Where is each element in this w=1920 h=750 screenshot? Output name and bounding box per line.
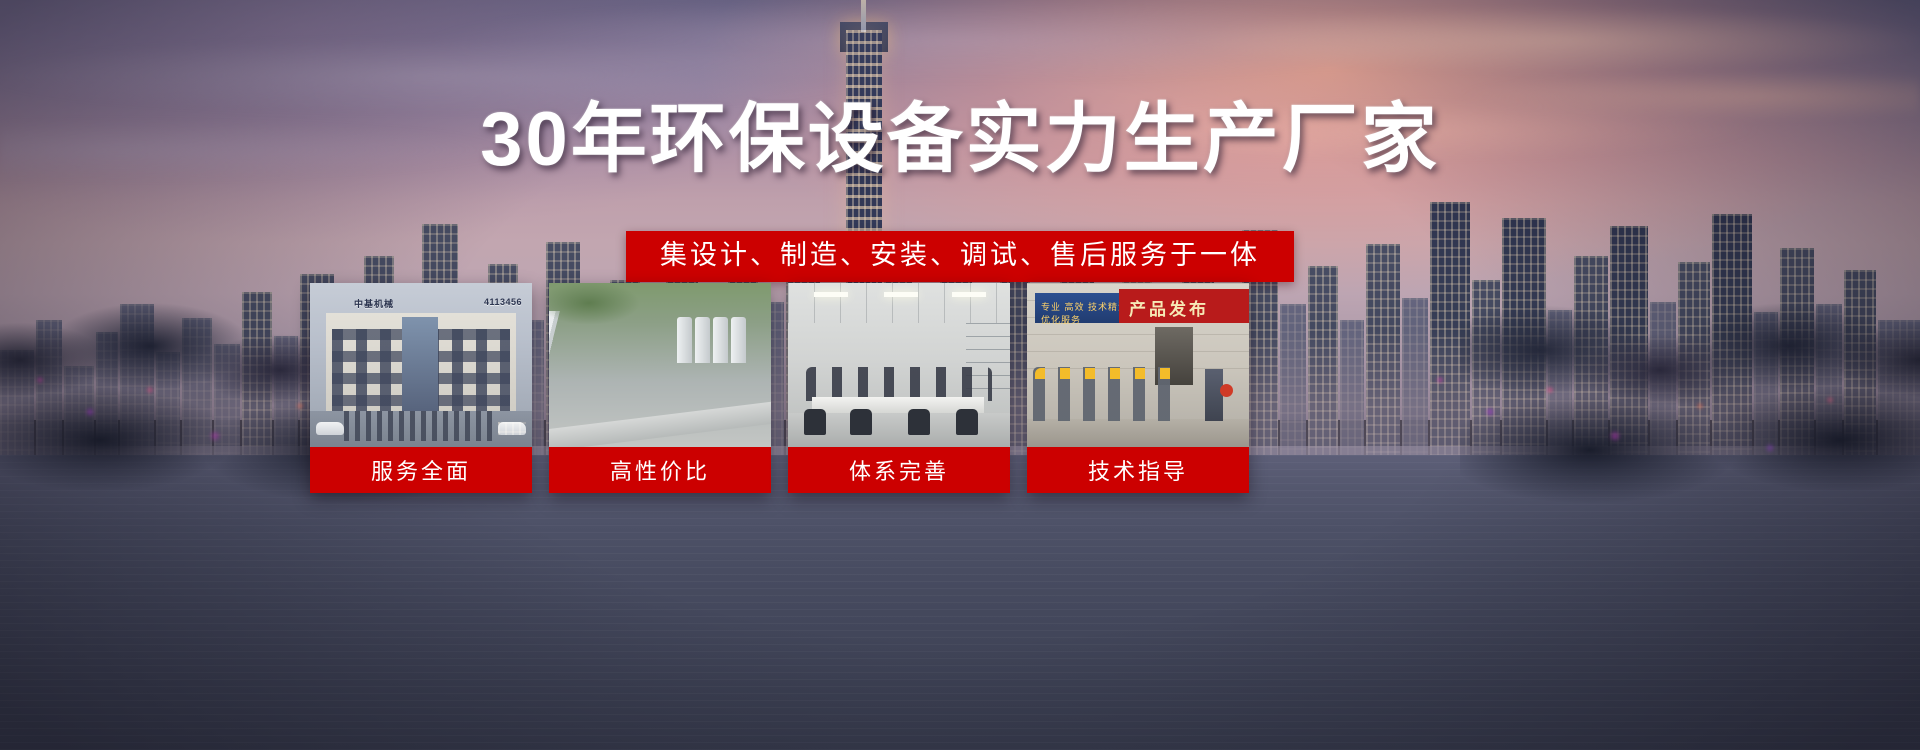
office-window bbox=[966, 323, 1010, 397]
safety-helmets bbox=[1035, 368, 1181, 379]
parked-car bbox=[316, 422, 344, 435]
workshop-banner: 产品发布 bbox=[1119, 289, 1249, 323]
feature-card[interactable]: 专业 高效 技术精湛 优化服务 产品发布 技术指导 bbox=[1027, 283, 1249, 493]
storage-silo bbox=[713, 317, 728, 363]
building-phone-text: 4113456 bbox=[484, 297, 522, 307]
card-label: 高性价比 bbox=[549, 447, 771, 493]
office-floor bbox=[788, 413, 1010, 447]
hero-banner: 30年环保设备实力生产厂家 集设计、制造、安装、调试、售后服务于一体 中基机械 … bbox=[0, 0, 1920, 750]
plant-greenery bbox=[549, 283, 649, 337]
workshop-door bbox=[1155, 327, 1193, 385]
card-thumbnail-office-meeting bbox=[788, 283, 1010, 447]
office-chair bbox=[956, 409, 978, 435]
workshop-slogan-panel: 专业 高效 技术精湛 优化服务 bbox=[1035, 293, 1131, 323]
card-thumbnail-headquarters: 中基机械 4113456 bbox=[310, 283, 532, 447]
workshop-floor bbox=[1027, 419, 1249, 447]
office-building-shape bbox=[326, 313, 516, 417]
office-chair bbox=[850, 409, 872, 435]
building-atrium bbox=[402, 317, 438, 417]
storage-silo bbox=[731, 317, 746, 363]
worker-group bbox=[1033, 367, 1183, 421]
office-chair bbox=[908, 409, 930, 435]
storage-silo bbox=[677, 317, 692, 363]
parked-car bbox=[498, 422, 526, 435]
banner-subtitle: 集设计、制造、安装、调试、售后服务于一体 bbox=[626, 231, 1294, 282]
ceiling-light bbox=[952, 292, 986, 297]
banner-subtitle-wrapper: 集设计、制造、安装、调试、售后服务于一体 bbox=[0, 231, 1920, 282]
card-label: 服务全面 bbox=[310, 447, 532, 493]
card-label: 技术指导 bbox=[1027, 447, 1249, 493]
building-sign-text: 中基机械 bbox=[354, 297, 394, 310]
supervisor-figure bbox=[1205, 369, 1223, 421]
office-ceiling bbox=[788, 283, 1010, 323]
banner-content: 30年环保设备实力生产厂家 集设计、制造、安装、调试、售后服务于一体 中基机械 … bbox=[0, 0, 1920, 750]
ceiling-light bbox=[814, 292, 848, 297]
banner-headline: 30年环保设备实力生产厂家 bbox=[0, 102, 1920, 178]
meeting-desk bbox=[812, 397, 984, 413]
workshop-slogan-text: 专业 高效 技术精湛 优化服务 bbox=[1041, 300, 1131, 326]
feature-card[interactable]: 中基机械 4113456 服务全面 bbox=[310, 283, 532, 493]
ceiling-light bbox=[884, 292, 918, 297]
workshop-banner-text: 产品发布 bbox=[1129, 295, 1209, 320]
held-object bbox=[1220, 384, 1233, 397]
workshop-wall bbox=[1027, 283, 1249, 383]
feature-card[interactable]: 高性价比 bbox=[549, 283, 771, 493]
staff-lineup bbox=[344, 411, 498, 441]
card-label: 体系完善 bbox=[788, 447, 1010, 493]
office-staff bbox=[806, 367, 992, 401]
feature-card-list: 中基机械 4113456 服务全面 bbox=[310, 283, 1249, 493]
card-thumbnail-workshop: 专业 高效 技术精湛 优化服务 产品发布 bbox=[1027, 283, 1249, 447]
feature-card[interactable]: 体系完善 bbox=[788, 283, 1010, 493]
office-chair bbox=[804, 409, 826, 435]
storage-silo bbox=[695, 317, 710, 363]
card-thumbnail-plant-aerial bbox=[549, 283, 771, 447]
plant-roadway bbox=[549, 400, 771, 447]
building-forecourt bbox=[310, 411, 532, 447]
